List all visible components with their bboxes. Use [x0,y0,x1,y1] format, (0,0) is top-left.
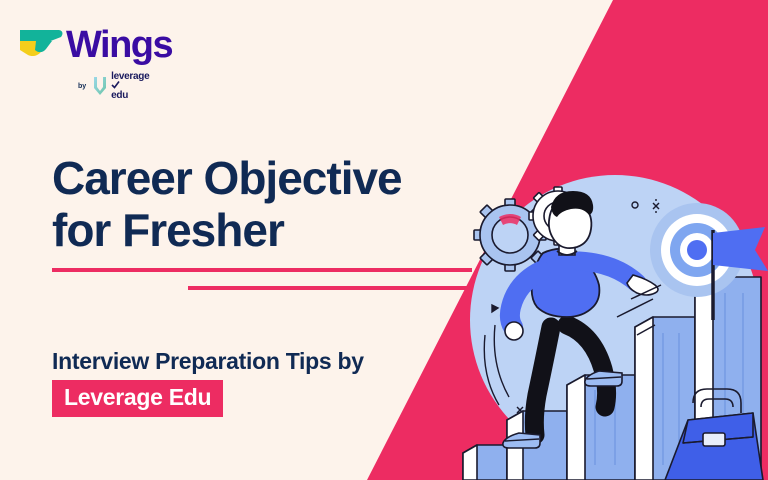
page-title: Career Objective for Fresher [52,152,472,256]
logo-main: Wings [18,22,178,68]
logo-leverage-text: leverage edu [111,72,149,100]
page-title-line1: Career Objective [52,152,472,204]
hand-left [505,322,523,340]
logo-leverage-line1: leverage [111,72,149,81]
subtitle-text: Interview Preparation Tips by [52,348,364,375]
divider-rule-top [52,268,472,272]
logo-wordmark: Wings [66,22,172,68]
logo-sublogo: by leverage edu [78,72,149,100]
logo-by-label: by [78,83,86,90]
wings-logo[interactable]: Wings by leverage edu [18,22,178,100]
leverage-v-icon [93,76,108,96]
hero-illustration [455,175,768,480]
banner: Wings by leverage edu [0,0,768,480]
page-title-line2: for Fresher [52,204,472,256]
brand-badge: Leverage Edu [52,380,223,417]
logo-leverage-line2: edu [111,91,149,100]
leverage-check-icon [111,81,120,89]
